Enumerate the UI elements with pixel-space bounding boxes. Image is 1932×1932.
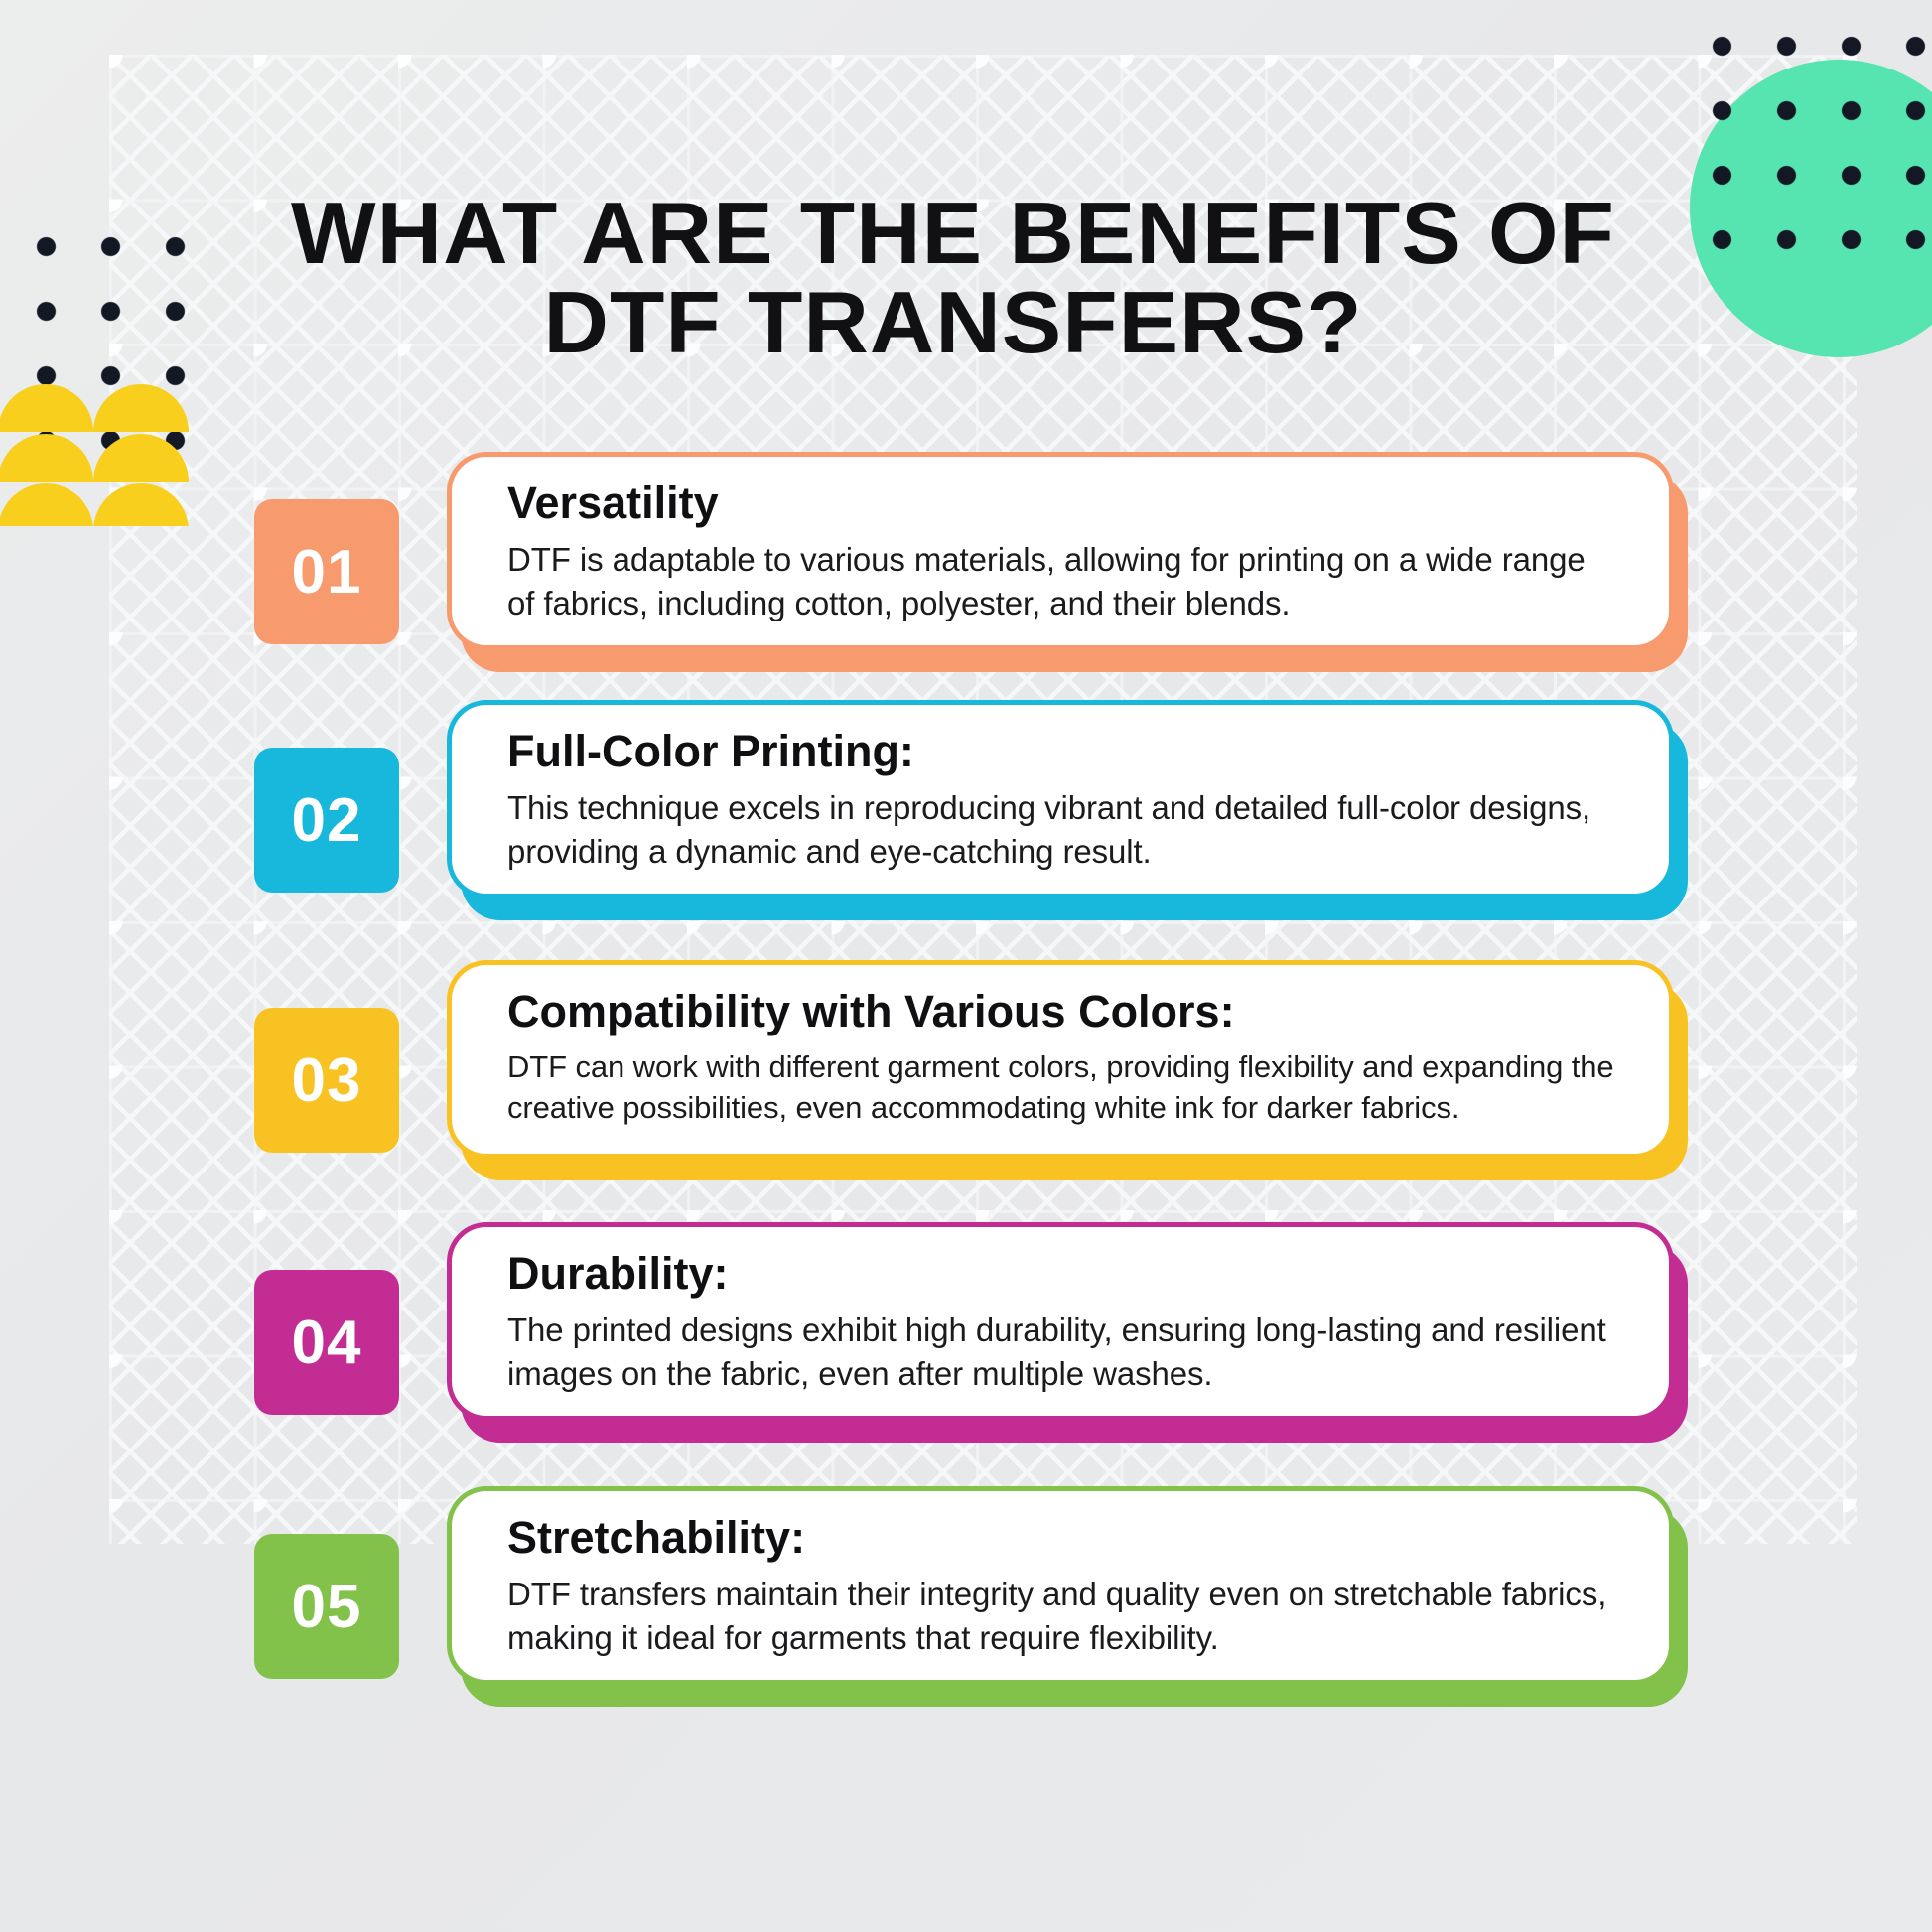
benefits-list: 01 Versatility DTF is adaptable to vario… [0,452,1932,1750]
page-title: WHAT ARE THE BENEFITS OF DTF TRANSFERS? [227,189,1680,367]
benefit-item: 04 Durability: The printed designs exhib… [0,1222,1932,1486]
benefit-item: 05 Stretchability: DTF transfers maintai… [0,1486,1932,1750]
benefit-card-wrapper: Compatibility with Various Colors: DTF c… [447,960,1674,1159]
benefit-heading: Stretchability: [507,1513,1617,1563]
benefit-number-badge: 03 [254,1008,399,1153]
benefit-number-badge: 04 [254,1270,399,1415]
benefit-item: 02 Full-Color Printing: This technique e… [0,700,1932,960]
benefit-card: Compatibility with Various Colors: DTF c… [447,960,1674,1159]
benefit-body: The printed designs exhibit high durabil… [507,1309,1617,1396]
benefit-card: Versatility DTF is adaptable to various … [447,452,1674,650]
infographic-canvas: WHAT ARE THE BENEFITS OF DTF TRANSFERS? … [0,0,1932,1932]
benefit-number-badge: 01 [254,499,399,644]
benefit-body: DTF is adaptable to various materials, a… [507,538,1617,625]
dot-grid-top-right-decoration [1684,8,1932,266]
benefit-heading: Durability: [507,1249,1617,1299]
benefit-card-wrapper: Stretchability: DTF transfers maintain t… [447,1486,1674,1685]
benefit-item: 03 Compatibility with Various Colors: DT… [0,960,1932,1222]
benefit-card: Durability: The printed designs exhibit … [447,1222,1674,1421]
benefit-item: 01 Versatility DTF is adaptable to vario… [0,452,1932,700]
benefit-heading: Versatility [507,479,1617,528]
benefit-card-wrapper: Durability: The printed designs exhibit … [447,1222,1674,1421]
benefit-card: Stretchability: DTF transfers maintain t… [447,1486,1674,1685]
benefit-body: DTF transfers maintain their integrity a… [507,1573,1617,1660]
benefit-body: DTF can work with different garment colo… [507,1046,1617,1129]
mint-circle-decoration [1690,60,1932,357]
benefit-body: This technique excels in reproducing vib… [507,786,1617,874]
dot-grid-top-left-decoration [8,208,207,467]
benefit-heading: Compatibility with Various Colors: [507,987,1617,1036]
benefit-card: Full-Color Printing: This technique exce… [447,700,1674,898]
benefit-card-wrapper: Full-Color Printing: This technique exce… [447,700,1674,898]
benefit-heading: Full-Color Printing: [507,727,1617,776]
benefit-number-badge: 02 [254,748,399,893]
benefit-card-wrapper: Versatility DTF is adaptable to various … [447,452,1674,650]
benefit-number-badge: 05 [254,1534,399,1679]
